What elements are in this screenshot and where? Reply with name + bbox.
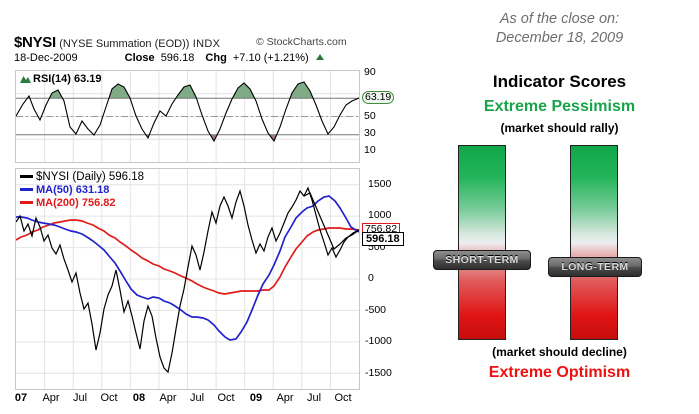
y-tick-1000: 1000 <box>368 209 391 221</box>
close-label: Close <box>125 52 155 64</box>
x-tick-jul2: Jul <box>190 392 204 404</box>
indicator-scores-title: Indicator Scores <box>420 72 699 92</box>
extreme-pessimism-label: Extreme Pessimism <box>420 98 699 116</box>
rsi-tick-90: 90 <box>364 66 376 78</box>
x-axis: 07 Apr Jul Oct 08 Apr Jul Oct 09 Apr Jul… <box>15 392 360 410</box>
rsi-value-box: 63.19 <box>362 91 394 104</box>
chart-index-tag: INDX <box>193 38 220 50</box>
x-tick-apr3: Apr <box>276 392 293 404</box>
y-tick-n1000: -1000 <box>365 335 392 347</box>
y-tick-0: 0 <box>368 272 374 284</box>
gauge-short-term[interactable] <box>458 145 506 340</box>
marker-long-term[interactable]: LONG-TERM <box>548 257 642 277</box>
x-tick-oct1: Oct <box>100 392 117 404</box>
rsi-legend: RSI(14) 63.19 <box>20 73 101 85</box>
marker-short-term[interactable]: SHORT-TERM <box>433 250 531 270</box>
indicator-scores-panel: As of the close on: December 18, 2009 In… <box>420 0 699 414</box>
as-of-line1: As of the close on: <box>420 10 699 29</box>
chart-quote-line: 18-Dec-2009 Close 596.18 Chg +7.10 (+1.2… <box>14 52 324 64</box>
market-should-decline-label: (market should decline) <box>420 345 699 359</box>
market-should-rally-label: (market should rally) <box>420 121 699 135</box>
x-tick-08: 08 <box>133 392 145 404</box>
legend-swatch-ma50 <box>20 188 33 191</box>
x-tick-oct3: Oct <box>334 392 351 404</box>
legend-label-ma200: MA(200) 756.82 <box>36 197 116 209</box>
y-tick-n1500: -1500 <box>365 367 392 379</box>
x-tick-oct2: Oct <box>217 392 234 404</box>
price-legend: $NYSI (Daily) 596.18 MA(50) 631.18 MA(20… <box>20 171 144 210</box>
last-price-box: 596.18 <box>362 232 404 246</box>
x-tick-07: 07 <box>15 392 27 404</box>
stockcharts-panel: $NYSI (NYSE Summation (EOD)) INDX © Stoc… <box>0 28 420 408</box>
x-tick-jul1: Jul <box>73 392 87 404</box>
y-tick-n500: -500 <box>365 304 386 316</box>
legend-swatch-ma200 <box>20 201 33 204</box>
x-tick-09: 09 <box>250 392 262 404</box>
as-of-date: As of the close on: December 18, 2009 <box>420 10 699 48</box>
legend-swatch-nysi <box>20 175 33 178</box>
close-value: 596.18 <box>161 52 195 64</box>
rsi-tick-10: 10 <box>364 144 376 156</box>
legend-label-ma50: MA(50) 631.18 <box>36 184 109 196</box>
legend-item-ma200: MA(200) 756.82 <box>20 197 144 209</box>
legend-item-ma50: MA(50) 631.18 <box>20 184 144 196</box>
as-of-line2: December 18, 2009 <box>420 29 699 48</box>
chart-header-symbol-line: $NYSI (NYSE Summation (EOD)) INDX <box>14 34 220 51</box>
rsi-mountain-icon <box>20 74 31 83</box>
gauge-long-term[interactable] <box>570 145 618 340</box>
legend-label-nysi: $NYSI (Daily) 596.18 <box>36 171 144 183</box>
stockcharts-brand: © StockCharts.com <box>256 36 347 48</box>
x-tick-jul3: Jul <box>307 392 321 404</box>
chg-value: +7.10 (+1.21%) <box>233 52 309 64</box>
chart-symbol: $NYSI <box>14 34 56 51</box>
price-axis: 1500 1000 500 0 -500 -1000 -1500 756.82 … <box>362 168 420 390</box>
rsi-tick-50: 50 <box>364 110 376 122</box>
up-triangle-icon <box>316 54 324 60</box>
extreme-optimism-label: Extreme Optimism <box>420 364 699 382</box>
rsi-axis: 90 50 30 10 63.19 <box>362 70 418 163</box>
chg-label: Chg <box>205 52 226 64</box>
x-tick-apr2: Apr <box>159 392 176 404</box>
y-tick-1500: 1500 <box>368 178 391 190</box>
quote-date: 18-Dec-2009 <box>14 52 78 64</box>
rsi-tick-30: 30 <box>364 127 376 139</box>
chart-description: (NYSE Summation (EOD)) <box>59 38 189 50</box>
legend-item-nysi: $NYSI (Daily) 596.18 <box>20 171 144 183</box>
x-tick-apr1: Apr <box>42 392 59 404</box>
rsi-legend-label: RSI(14) 63.19 <box>33 73 101 85</box>
